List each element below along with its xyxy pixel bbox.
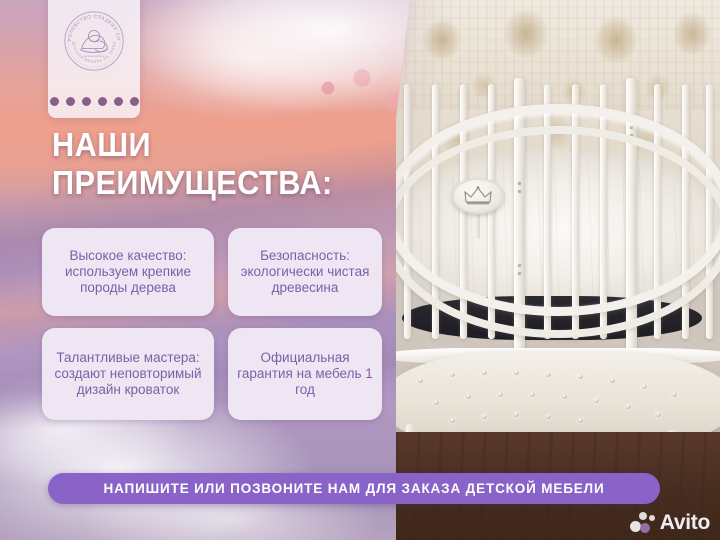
dot xyxy=(130,97,139,106)
headline-line-1: НАШИ xyxy=(52,126,151,163)
crown-medallion-icon xyxy=(452,178,504,214)
benefits-row-1: Высокое качество: используем крепкие пор… xyxy=(42,228,382,316)
benefit-card-quality: Высокое качество: используем крепкие пор… xyxy=(42,228,214,316)
cta-banner[interactable]: НАПИШИТЕ ИЛИ ПОЗВОНИТЕ НАМ ДЛЯ ЗАКАЗА ДЕ… xyxy=(48,473,660,504)
dot xyxy=(82,97,91,106)
benefits-row-2: Талантливые мастера: создают неповторимы… xyxy=(42,328,382,420)
headline-line-2: ПРЕИМУЩЕСТВА: xyxy=(52,166,359,199)
avito-wordmark: Avito xyxy=(660,511,710,535)
medallion-stem xyxy=(476,210,480,238)
dot xyxy=(114,97,123,106)
dot xyxy=(66,97,75,106)
page-title: НАШИ ПРЕИМУЩЕСТВА: xyxy=(52,128,359,199)
benefit-card-text: Высокое качество: используем крепкие пор… xyxy=(50,248,206,296)
dot xyxy=(98,97,107,106)
dot xyxy=(50,97,59,106)
benefit-card-safety: Безопасность: экологически чистая древес… xyxy=(228,228,382,316)
benefit-card-text: Безопасность: экологически чистая древес… xyxy=(236,248,374,296)
brand-logo-panel: КОРОЛЕВСТВО СЛАДКИХ СНОВ ДЕТСКАЯ МЕБЕЛЬ … xyxy=(48,0,140,118)
benefit-card-text: Талантливые мастера: создают неповторимы… xyxy=(50,350,206,398)
benefit-card-masters: Талантливые мастера: создают неповторимы… xyxy=(42,328,214,420)
sleeping-baby-emblem-icon: КОРОЛЕВСТВО СЛАДКИХ СНОВ ДЕТСКАЯ МЕБЕЛЬ … xyxy=(63,10,125,72)
svg-text:детская мебель: детская мебель xyxy=(84,54,105,58)
svg-text:КОРОЛЕВСТВО СЛАДКИХ СНОВ: КОРОЛЕВСТВО СЛАДКИХ СНОВ xyxy=(63,10,121,41)
decorative-dots xyxy=(48,97,140,106)
avito-dots-logo-icon xyxy=(630,512,656,534)
crib-oval-rail-inner xyxy=(396,126,720,338)
cta-banner-text: НАПИШИТЕ ИЛИ ПОЗВОНИТЕ НАМ ДЛЯ ЗАКАЗА ДЕ… xyxy=(104,481,605,496)
benefit-card-warranty: Официальная гарантия на мебель 1 год xyxy=(228,328,382,420)
advert-canvas: КОРОЛЕВСТВО СЛАДКИХ СНОВ ДЕТСКАЯ МЕБЕЛЬ … xyxy=(0,0,720,540)
avito-watermark: Avito xyxy=(630,511,710,535)
crib-product-photo xyxy=(396,0,720,540)
benefits-card-grid: Высокое качество: используем крепкие пор… xyxy=(42,228,382,432)
benefit-card-text: Официальная гарантия на мебель 1 год xyxy=(236,350,374,398)
